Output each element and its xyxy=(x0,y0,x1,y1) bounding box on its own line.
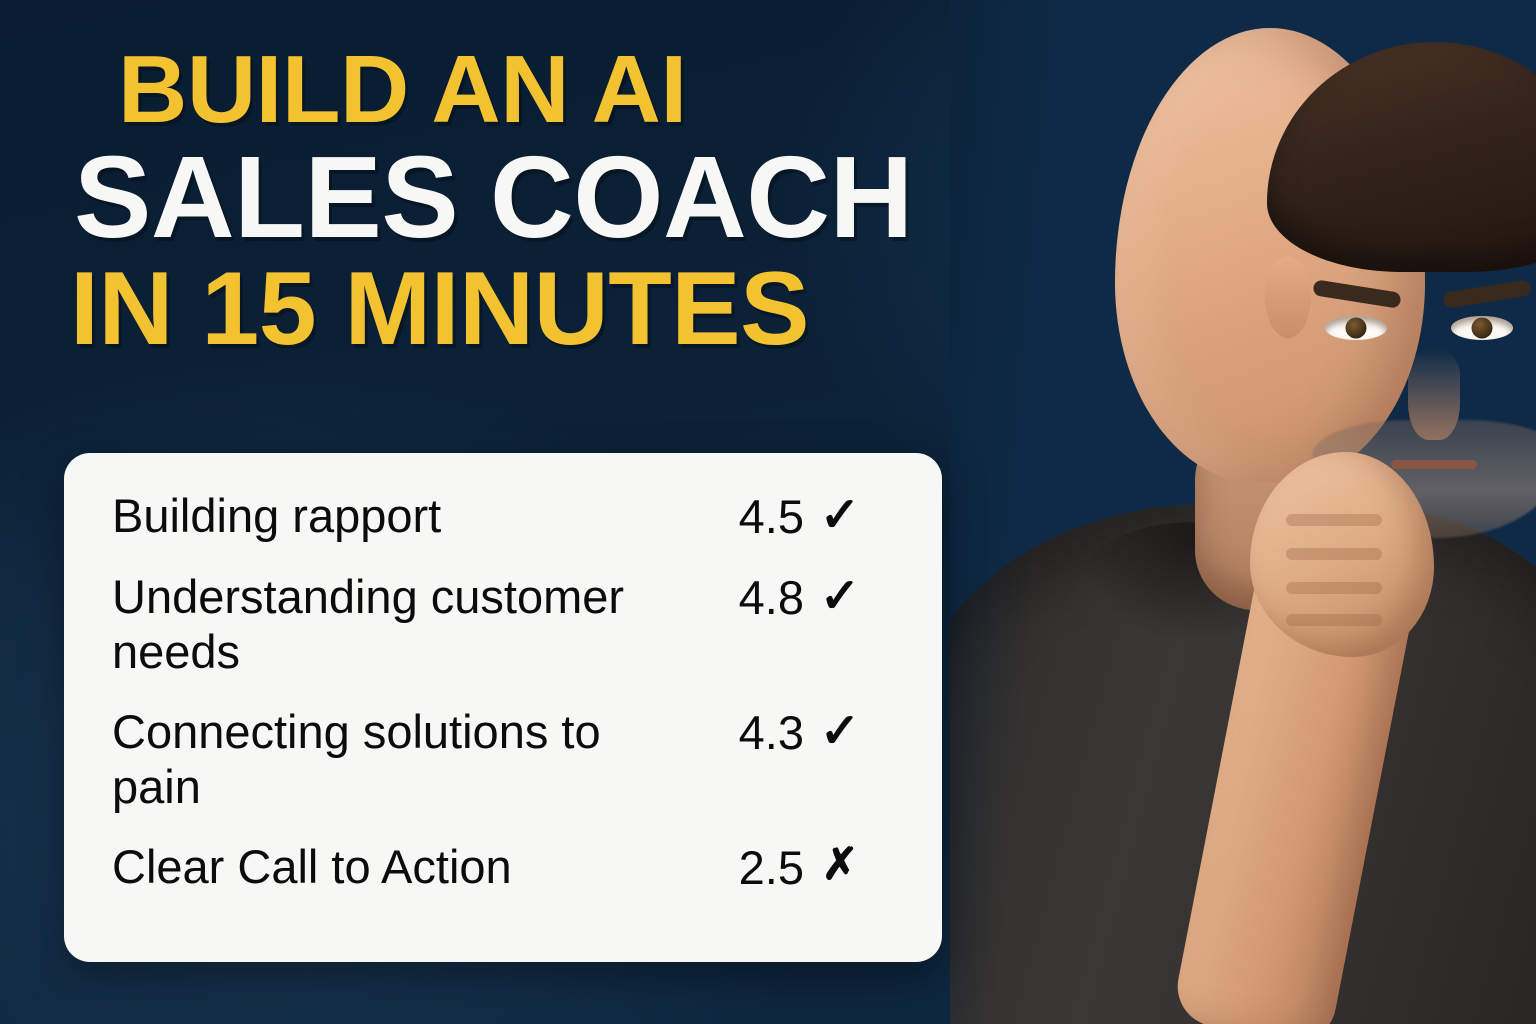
headline-line-1: BUILD AN AI xyxy=(118,44,908,136)
promo-banner: BUILD AN AI SALES COACH IN 15 MINUTES Bu… xyxy=(0,0,1536,1024)
scorecard-row: Understanding customer needs 4.8 ✓ xyxy=(112,570,898,679)
mouth xyxy=(1391,460,1477,469)
scorecard-row-label: Connecting solutions to pain xyxy=(112,705,712,814)
check-icon: ✓ xyxy=(804,705,876,759)
scorecard-row-score: 4.3 xyxy=(712,705,804,760)
scorecard-row-score: 4.8 xyxy=(712,570,804,625)
headline: BUILD AN AI SALES COACH IN 15 MINUTES xyxy=(118,44,908,359)
scorecard-row-label: Building rapport xyxy=(112,489,712,544)
headline-line-2: SALES COACH xyxy=(74,142,908,253)
eye-left xyxy=(1325,316,1387,340)
scorecard-row-label: Understanding customer needs xyxy=(112,570,712,679)
scorecard-row: Connecting solutions to pain 4.3 ✓ xyxy=(112,705,898,814)
check-icon: ✓ xyxy=(804,489,876,543)
knuckle xyxy=(1286,514,1382,526)
eyebrow-left xyxy=(1312,279,1401,309)
eye-right xyxy=(1451,316,1513,340)
scorecard-row-score: 4.5 xyxy=(712,489,804,544)
knuckle xyxy=(1286,582,1382,594)
check-icon: ✓ xyxy=(804,570,876,624)
hair xyxy=(1267,42,1536,272)
presenter-photo xyxy=(950,0,1536,1024)
scorecard-row: Clear Call to Action 2.5 ✗ xyxy=(112,840,898,895)
scorecard-row-score: 2.5 xyxy=(712,840,804,895)
ear-left xyxy=(1265,256,1311,338)
scorecard: Building rapport 4.5 ✓ Understanding cus… xyxy=(64,453,942,962)
scorecard-row: Building rapport 4.5 ✓ xyxy=(112,489,898,544)
cross-icon: ✗ xyxy=(804,840,876,889)
scorecard-row-label: Clear Call to Action xyxy=(112,840,712,895)
knuckle xyxy=(1286,614,1382,626)
knuckle xyxy=(1286,548,1382,560)
headline-line-3: IN 15 MINUTES xyxy=(70,260,908,360)
